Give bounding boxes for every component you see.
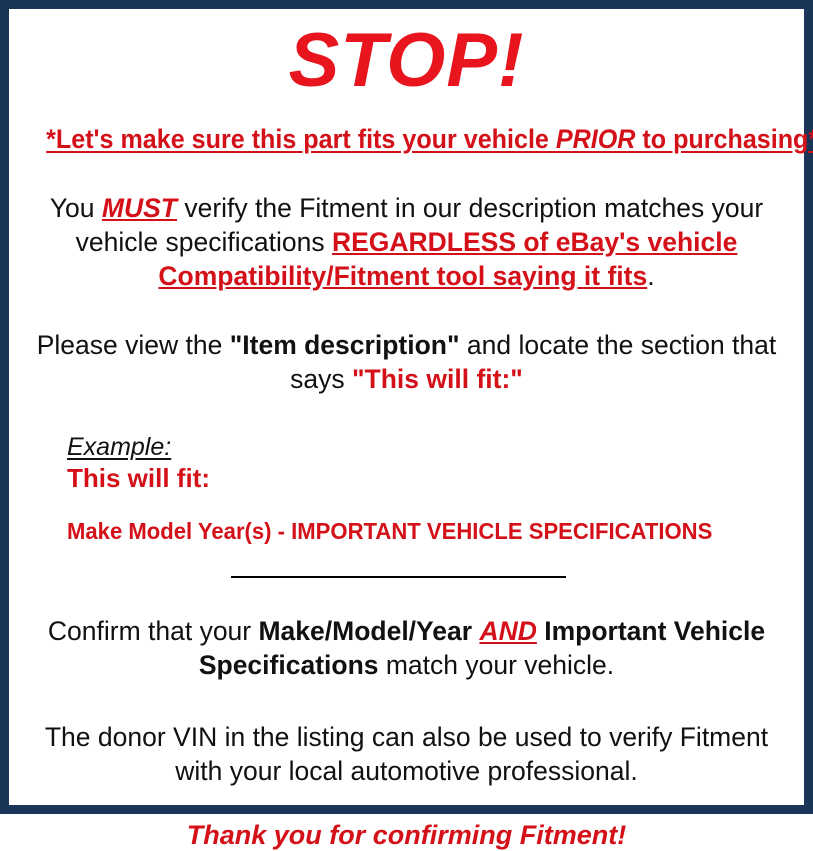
verify-emphasis-must: MUST	[102, 193, 177, 223]
subtitle-prefix: *Let's make sure this part fits your veh…	[46, 124, 556, 154]
notice-inner: STOP! *Let's make sure this part fits yo…	[9, 9, 804, 805]
example-spec-line: Make Model Year(s) - IMPORTANT VEHICLE S…	[67, 494, 765, 544]
fitment-notice-card: STOP! *Let's make sure this part fits yo…	[0, 0, 813, 814]
paragraph-view: Please view the "Item description" and l…	[19, 293, 794, 397]
subtitle-emphasis-prior: PRIOR	[556, 124, 636, 154]
thank-you-line: Thank you for confirming Fitment!	[19, 789, 794, 851]
subtitle-line: *Let's make sure this part fits your veh…	[46, 99, 767, 155]
view-text-part1: Please view the	[37, 330, 230, 360]
view-this-will-fit-label: "This will fit:"	[352, 364, 523, 394]
confirm-make-model-year: Make/Model/Year	[258, 616, 472, 646]
stop-headline: STOP!	[19, 9, 794, 99]
divider-wrap	[19, 544, 794, 580]
subtitle-suffix: to purchasing*	[635, 124, 813, 154]
example-label: Example:	[67, 433, 794, 462]
confirm-emphasis-and: AND	[479, 616, 536, 646]
paragraph-verify: You MUST verify the Fitment in our descr…	[19, 155, 794, 294]
example-block: Example: This will fit: Make Model Year(…	[19, 397, 794, 544]
confirm-text-part1: Confirm that your	[48, 616, 259, 646]
confirm-text-part2: match your vehicle.	[379, 650, 615, 680]
verify-text-part3: .	[647, 261, 654, 291]
paragraph-confirm: Confirm that your Make/Model/Year AND Im…	[19, 580, 794, 683]
paragraph-vin: The donor VIN in the listing can also be…	[19, 683, 794, 789]
example-fit-header: This will fit:	[67, 462, 794, 494]
verify-text-part1: You	[50, 193, 102, 223]
horizontal-divider	[231, 576, 566, 578]
view-item-description-label: "Item description"	[230, 330, 460, 360]
